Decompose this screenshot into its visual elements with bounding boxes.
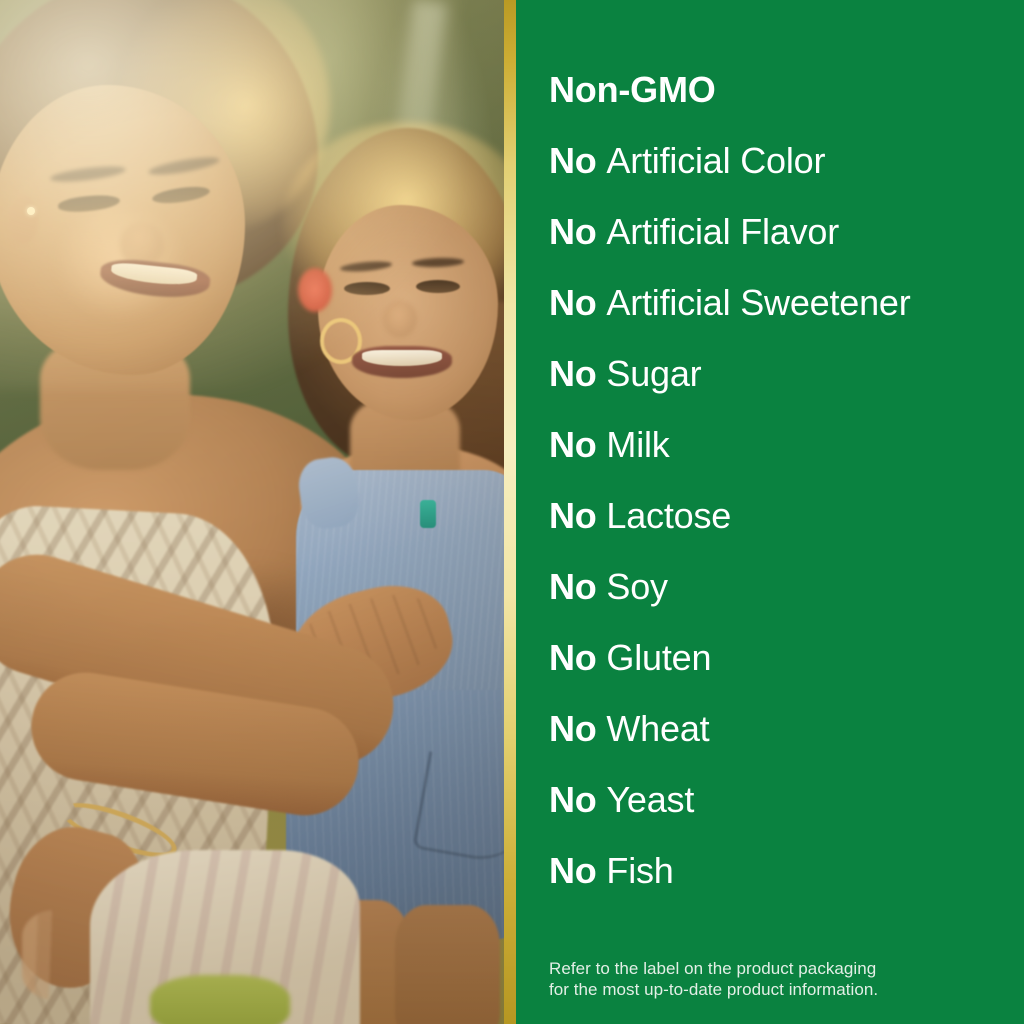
disclaimer-line-1: Refer to the label on the product packag…: [549, 958, 1002, 979]
claim-fish: No Fish: [549, 853, 1016, 924]
claim-soy: No Soy: [549, 569, 1016, 640]
label-disclaimer: Refer to the label on the product packag…: [549, 958, 1002, 1001]
claims-list: Non-GMO No Artificial Color No Artificia…: [549, 72, 1016, 924]
claim-artificial-sweetener: No Artificial Sweetener: [549, 285, 1016, 356]
lifestyle-photo: [0, 0, 504, 1024]
claim-prefix: No: [549, 850, 597, 891]
claim-prefix: No: [549, 779, 597, 820]
gold-divider-stripe: [504, 0, 516, 1024]
claim-gluten: No Gluten: [549, 640, 1016, 711]
claim-prefix: No: [549, 282, 597, 323]
claim-lactose: No Lactose: [549, 498, 1016, 569]
claim-sugar: No Sugar: [549, 356, 1016, 427]
claim-text: Fish: [606, 850, 673, 891]
claim-heading-non-gmo: Non-GMO: [549, 72, 1016, 143]
claim-text: Milk: [606, 424, 669, 465]
claim-artificial-flavor: No Artificial Flavor: [549, 214, 1016, 285]
claim-milk: No Milk: [549, 427, 1016, 498]
claim-prefix: No: [549, 566, 597, 607]
claim-text: Artificial Flavor: [606, 211, 839, 252]
claim-text: Artificial Color: [606, 140, 825, 181]
claim-text: Artificial Sweetener: [606, 282, 910, 323]
photo-vignette: [0, 0, 504, 1024]
claim-text: Lactose: [606, 495, 731, 536]
claim-text: Yeast: [606, 779, 694, 820]
claim-prefix: No: [549, 211, 597, 252]
claim-wheat: No Wheat: [549, 711, 1016, 782]
claims-panel: Non-GMO No Artificial Color No Artificia…: [516, 0, 1024, 1024]
claim-prefix: No: [549, 424, 597, 465]
claim-prefix: No: [549, 495, 597, 536]
product-claims-banner: Non-GMO No Artificial Color No Artificia…: [0, 0, 1024, 1024]
claim-prefix: No: [549, 637, 597, 678]
claim-artificial-color: No Artificial Color: [549, 143, 1016, 214]
claim-text: Sugar: [606, 353, 701, 394]
claim-text: Wheat: [606, 708, 709, 749]
claim-prefix: No: [549, 708, 597, 749]
claim-yeast: No Yeast: [549, 782, 1016, 853]
claim-prefix: No: [549, 140, 597, 181]
claim-prefix: No: [549, 353, 597, 394]
claim-text: Gluten: [606, 637, 711, 678]
disclaimer-line-2: for the most up-to-date product informat…: [549, 979, 1002, 1000]
claim-text: Soy: [606, 566, 667, 607]
